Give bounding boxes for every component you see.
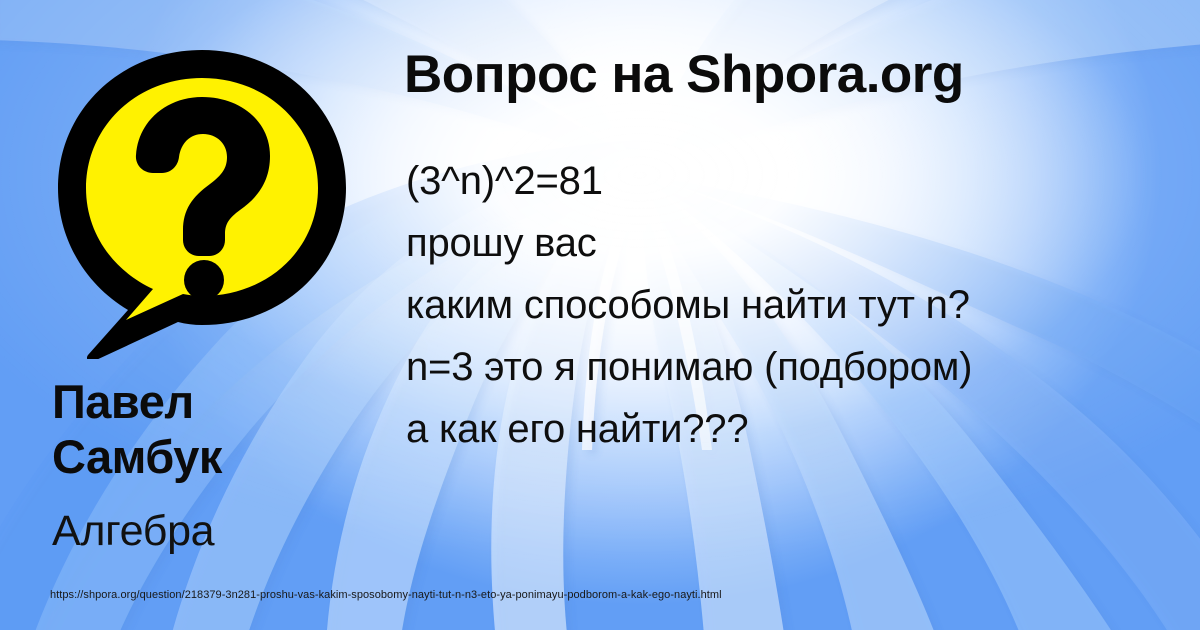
question-card: Вопрос на Shpora.org (3^n)^2=81 прошу ва… <box>0 0 1200 630</box>
author-name-last: Самбук <box>52 429 382 484</box>
question-body: (3^n)^2=81 прошу вас каким способомы най… <box>406 150 1200 460</box>
page-title: Вопрос на Shpora.org <box>404 48 964 101</box>
question-line: (3^n)^2=81 <box>406 150 1200 212</box>
author-name: Павел Самбук <box>52 374 382 484</box>
question-line: n=3 это я понимаю (подбором) <box>406 336 1200 398</box>
question-speech-bubble-icon <box>52 44 352 359</box>
subject-label: Алгебра <box>52 508 214 555</box>
source-url[interactable]: https://shpora.org/question/218379-3n281… <box>50 589 722 601</box>
author-name-first: Павел <box>52 374 382 429</box>
question-line: а как его найти??? <box>406 398 1200 460</box>
question-line: каким способомы найти тут n? <box>406 274 1200 336</box>
question-line: прошу вас <box>406 212 1200 274</box>
